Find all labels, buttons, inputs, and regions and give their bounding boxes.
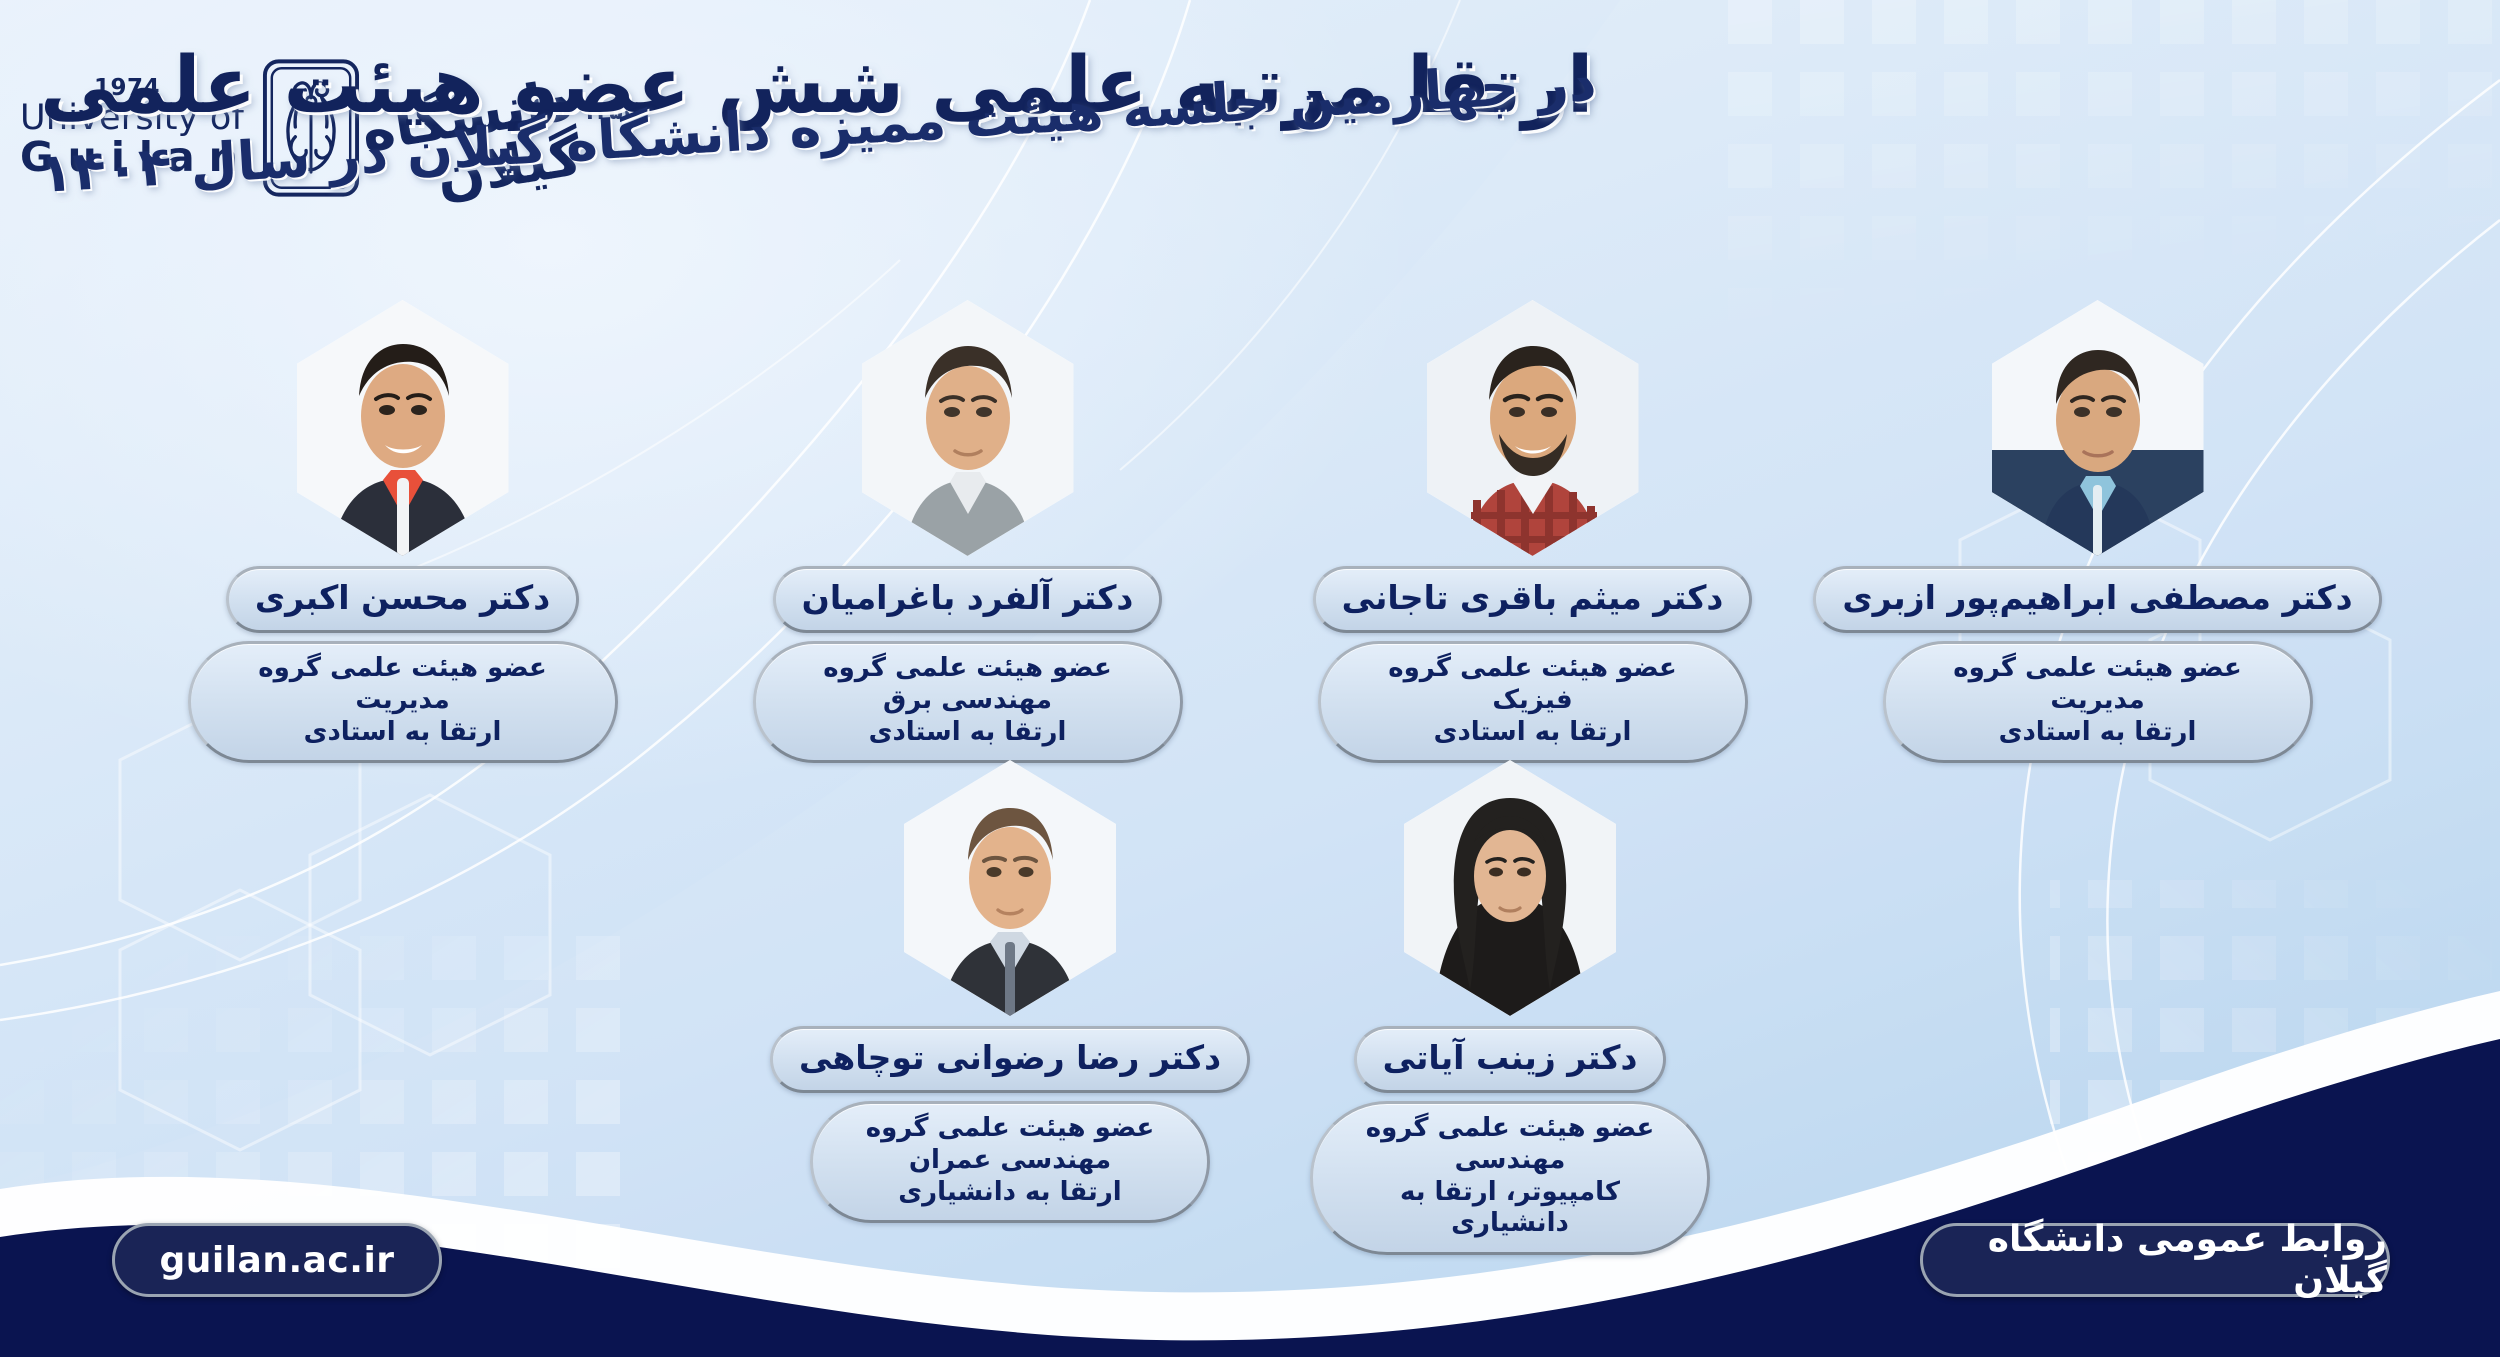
poster-canvas: 1974 University of Guilan ۱۳۵۳ دانشگاه گ	[0, 0, 2500, 1357]
portrait-photo	[1427, 300, 1639, 556]
person-card: دکتر رضا رضوانی توچاهی عضو هیئت علمی گرو…	[760, 760, 1260, 1255]
people-row-top: دکتر مصطفی ابراهیم‌پور ازبری عضو هیئت عل…	[120, 300, 2380, 763]
person-role-line: عضو هیئت علمی گروه مدیریت	[221, 653, 585, 716]
portrait-photo	[1404, 760, 1616, 1016]
person-card: دکتر میثم باقری تاجانی عضو هیئت علمی گرو…	[1250, 300, 1815, 763]
avatar	[904, 760, 1116, 1016]
avatar-hex-frame	[904, 760, 1116, 1016]
portrait-photo	[904, 760, 1116, 1016]
person-promotion-line: کامپیوتر، ارتقا به دانشیاری	[1343, 1177, 1677, 1240]
public-relations-badge: روابط عمومی دانشگاه گیلان	[1920, 1223, 2390, 1297]
portrait-photo	[297, 300, 509, 556]
person-promotion-line: ارتقا به استادی	[1916, 717, 2280, 749]
person-name-plate: دکتر محسن اکبری	[226, 566, 579, 633]
person-role-line: عضو هیئت علمی گروه مهندسی عمران	[843, 1113, 1177, 1176]
person-role-plate: عضو هیئت علمی گروه مدیریت ارتقا به استاد…	[188, 641, 618, 763]
person-role-plate: عضو هیئت علمی گروه مدیریت ارتقا به استاد…	[1883, 641, 2313, 763]
people-row-bottom: دکتر زینب آیاتی عضو هیئت علمی گروه مهندس…	[760, 760, 1760, 1255]
avatar-hex-frame	[862, 300, 1074, 556]
person-promotion-line: ارتقا به استادی	[1351, 717, 1715, 749]
avatar	[1404, 760, 1616, 1016]
person-promotion-line: ارتقا به دانشیاری	[843, 1177, 1177, 1209]
person-card: دکتر آلفرد باغرامیان عضو هیئت علمی گروه …	[685, 300, 1250, 763]
person-role-line: عضو هیئت علمی گروه مهندسی	[1343, 1113, 1677, 1176]
person-role-line: عضو هیئت علمی گروه فیزیک	[1351, 653, 1715, 716]
avatar	[1427, 300, 1639, 556]
website-link[interactable]: guilan.ac.ir	[112, 1223, 442, 1297]
person-promotion-line: ارتقا به استادی	[221, 717, 585, 749]
person-name-plate: دکتر میثم باقری تاجانی	[1313, 566, 1753, 633]
person-name-plate: دکتر زینب آیاتی	[1354, 1026, 1667, 1093]
person-name-plate: دکتر مصطفی ابراهیم‌پور ازبری	[1813, 566, 2381, 633]
person-card: دکتر محسن اکبری عضو هیئت علمی گروه مدیری…	[120, 300, 685, 763]
avatar-hex-frame	[297, 300, 509, 556]
person-role-plate: عضو هیئت علمی گروه مهندسی عمران ارتقا به…	[810, 1101, 1210, 1223]
person-name-plate: دکتر رضا رضوانی توچاهی	[770, 1026, 1250, 1093]
person-card: دکتر زینب آیاتی عضو هیئت علمی گروه مهندس…	[1260, 760, 1760, 1255]
avatar-hex-frame	[1427, 300, 1639, 556]
avatar	[297, 300, 509, 556]
portrait-photo	[862, 300, 1074, 556]
person-promotion-line: ارتقا به استادی	[786, 717, 1150, 749]
avatar	[862, 300, 1074, 556]
person-card: دکتر مصطفی ابراهیم‌پور ازبری عضو هیئت عل…	[1815, 300, 2380, 763]
avatar	[1992, 300, 2204, 556]
person-role-line: عضو هیئت علمی گروه مدیریت	[1916, 653, 2280, 716]
header-text-block: ارتقا مرتبه علمی شش عضو هیئت علمی در چها…	[40, 40, 1940, 207]
person-role-plate: عضو هیئت علمی گروه مهندسی کامپیوتر، ارتق…	[1310, 1101, 1710, 1255]
person-name-plate: دکتر آلفرد باغرامیان	[773, 566, 1163, 633]
person-role-plate: عضو هیئت علمی گروه فیزیک ارتقا به استادی	[1318, 641, 1748, 763]
portrait-photo	[1992, 300, 2204, 556]
person-role-line: عضو هیئت علمی گروه مهندسی برق	[786, 653, 1150, 716]
person-role-plate: عضو هیئت علمی گروه مهندسی برق ارتقا به ا…	[753, 641, 1183, 763]
avatar-hex-frame	[1404, 760, 1616, 1016]
avatar-hex-frame	[1992, 300, 2204, 556]
